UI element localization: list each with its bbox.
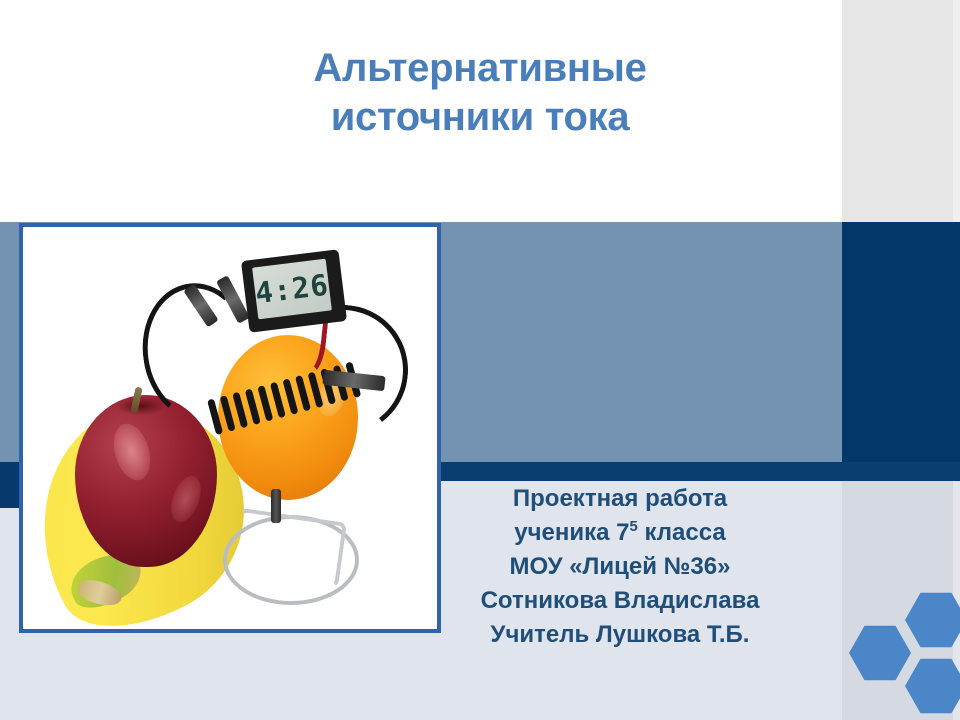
slide-title-line-2: источники тока	[120, 93, 840, 142]
subtitle-class-prefix: ученика 7	[514, 519, 629, 546]
navy-divider-rule	[440, 462, 960, 481]
presentation-slide: Альтернативные источники тока	[0, 0, 960, 720]
background-top-gray-edge	[953, 0, 960, 222]
slide-title: Альтернативные источники тока	[120, 44, 840, 142]
subtitle-class-superscript: 5	[630, 519, 638, 535]
subtitle-line-class: ученика 75 класса	[420, 516, 820, 550]
background-navy-right-block	[842, 222, 960, 463]
photo-frame: 4:26	[19, 223, 441, 633]
slide-title-line-1: Альтернативные	[120, 44, 840, 93]
subtitle-line-work-type: Проектная работа	[420, 482, 820, 516]
wire-stand-post	[271, 489, 281, 523]
digital-clock-screen: 4:26	[252, 259, 332, 320]
fruit-battery-photo: 4:26	[23, 227, 437, 629]
slide-subtitle: Проектная работа ученика 75 класса МОУ «…	[420, 482, 820, 652]
subtitle-class-suffix: класса	[638, 519, 726, 546]
background-top-gray-strip	[842, 0, 953, 222]
subtitle-line-student: Сотникова Владислава	[420, 584, 820, 618]
subtitle-line-school: МОУ «Лицей №36»	[420, 550, 820, 584]
clock-time-display: 4:26	[253, 268, 330, 311]
navy-left-block	[0, 462, 19, 508]
apple-dimple	[117, 397, 165, 415]
subtitle-line-teacher: Учитель Лушкова Т.Б.	[420, 618, 820, 652]
